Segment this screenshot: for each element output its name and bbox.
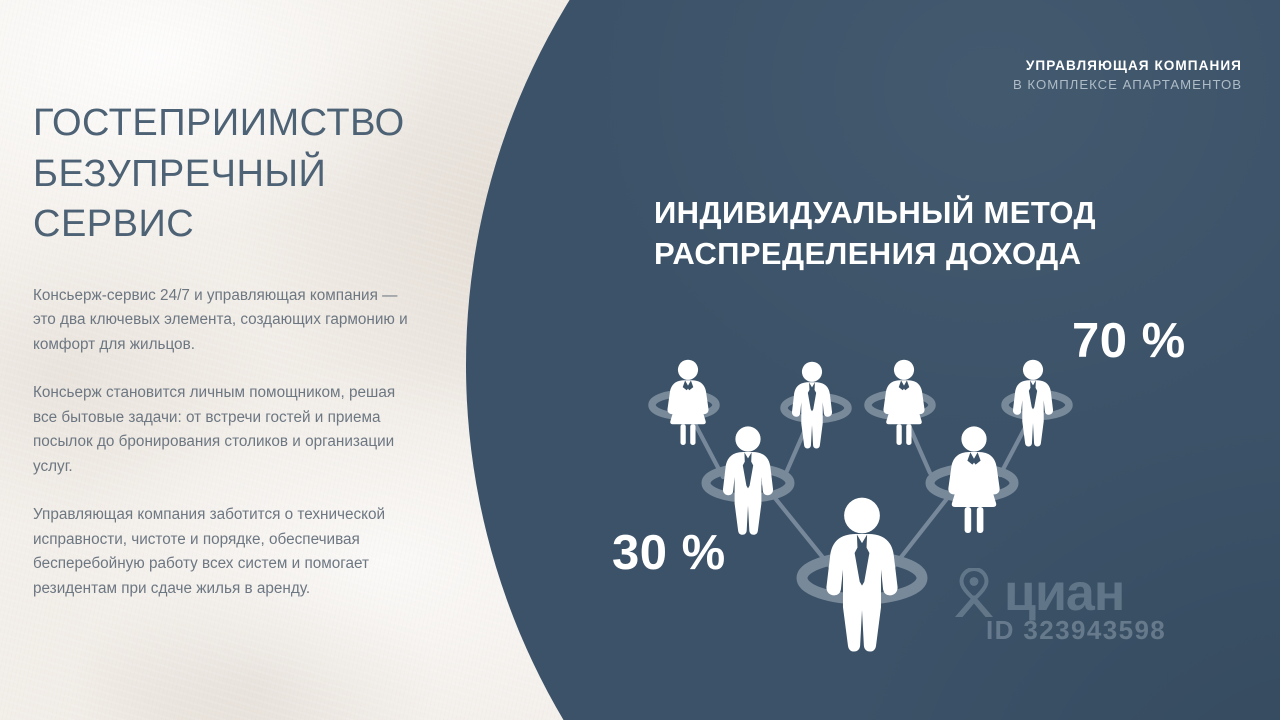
body-paragraph-1: Консьерж-сервис 24/7 и управляющая компа… <box>33 284 411 358</box>
percent-label-70: 70 % <box>1072 313 1186 369</box>
figure-top-3-female <box>883 360 924 445</box>
page-title: ГОСТЕПРИИМСТВО БЕЗУПРЕЧНЫЙ СЕРВИС <box>33 98 423 250</box>
top-row-figures <box>667 360 1053 449</box>
brand-subtitle: В КОМПЛЕКСЕ АПАРТАМЕНТОВ <box>1013 77 1242 92</box>
section-title: ИНДИВИДУАЛЬНЫЙ МЕТОД РАСПРЕДЕЛЕНИЯ ДОХОД… <box>654 193 1096 275</box>
left-text-column: ГОСТЕПРИИМСТВО БЕЗУПРЕЧНЫЙ СЕРВИС Консье… <box>33 98 423 602</box>
brand-title: УПРАВЛЯЮЩАЯ КОМПАНИЯ <box>1013 58 1242 73</box>
percent-label-30: 30 % <box>612 525 726 581</box>
slide-root: ГОСТЕПРИИМСТВО БЕЗУПРЕЧНЫЙ СЕРВИС Консье… <box>0 0 1280 720</box>
figure-top-4-male <box>1013 360 1053 447</box>
platform-rings-top <box>652 394 1069 420</box>
brand-header: УПРАВЛЯЮЩАЯ КОМПАНИЯ В КОМПЛЕКСЕ АПАРТАМ… <box>1013 58 1242 92</box>
figure-mid-left-male <box>723 426 773 534</box>
body-paragraph-list: Консьерж-сервис 24/7 и управляющая компа… <box>33 284 423 602</box>
body-paragraph-2: Консьерж становится личным помощником, р… <box>33 381 411 480</box>
figure-top-1-female <box>667 360 708 445</box>
figure-top-2-male <box>792 362 832 449</box>
body-paragraph-3: Управляющая компания заботится о техниче… <box>33 503 411 602</box>
figure-mid-right-female <box>948 426 999 533</box>
